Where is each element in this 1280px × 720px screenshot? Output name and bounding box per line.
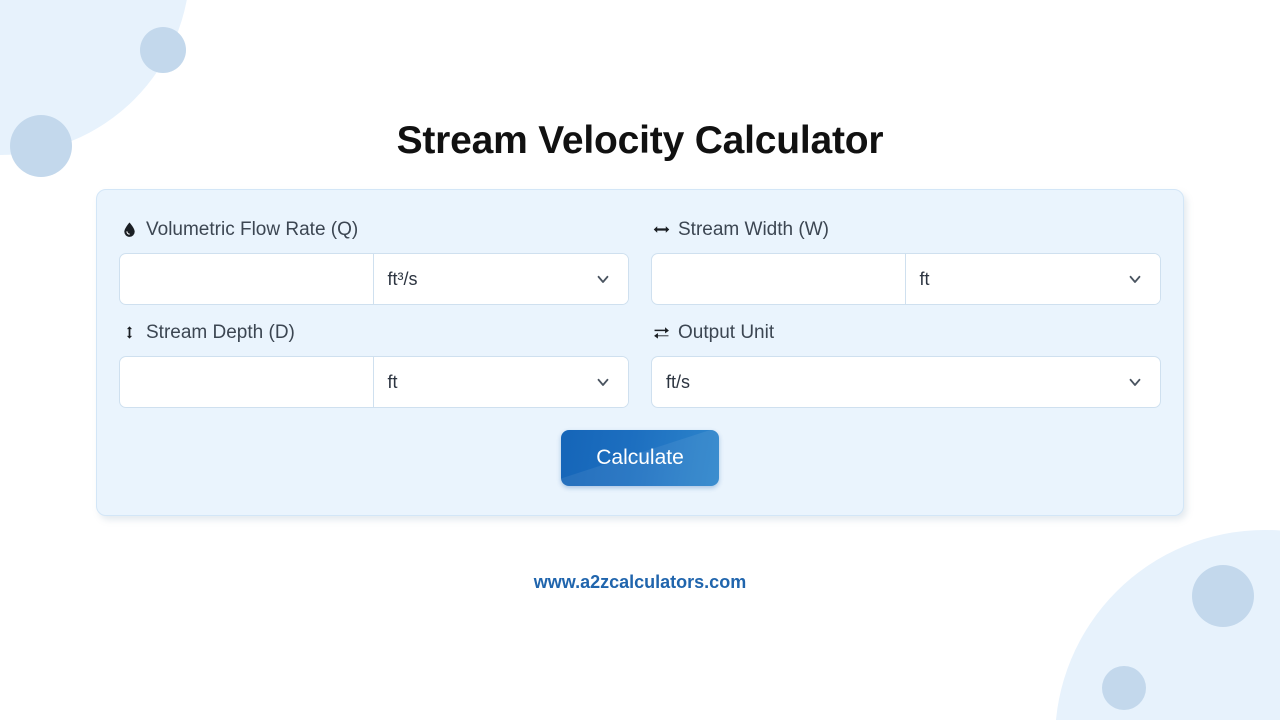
chevron-down-icon [594, 270, 612, 288]
input-group-volumetric-flow-rate: ft³/s [119, 253, 629, 305]
chevron-down-icon [1126, 373, 1144, 391]
field-output-unit: Output Unit ft/s [651, 315, 1161, 418]
label-volumetric-flow-rate: Volumetric Flow Rate (Q) [119, 212, 629, 246]
calculator-page: Stream Velocity Calculator Volumetric Fl… [0, 0, 1280, 720]
output-unit-select[interactable]: ft/s [651, 356, 1161, 408]
exchange-arrows-icon [651, 322, 671, 342]
volumetric-flow-rate-input[interactable] [120, 254, 373, 304]
input-group-stream-depth: ft [119, 356, 629, 408]
field-stream-width: Stream Width (W) ft [651, 212, 1161, 315]
field-label-text: Stream Depth (D) [146, 323, 295, 342]
calculate-button[interactable]: Calculate [561, 430, 719, 486]
calculator-card: Volumetric Flow Rate (Q) ft³/s [96, 189, 1184, 516]
label-output-unit: Output Unit [651, 315, 1161, 349]
form-grid: Volumetric Flow Rate (Q) ft³/s [119, 212, 1161, 418]
stream-depth-unit-select[interactable]: ft [374, 357, 629, 407]
field-volumetric-flow-rate: Volumetric Flow Rate (Q) ft³/s [119, 212, 629, 315]
field-label-text: Output Unit [678, 323, 774, 342]
calculate-button-label: Calculate [596, 446, 684, 469]
input-group-stream-width: ft [651, 253, 1161, 305]
footer-website-link[interactable]: www.a2zcalculators.com [0, 572, 1280, 593]
stream-width-unit-select[interactable]: ft [906, 254, 1161, 304]
field-stream-depth: Stream Depth (D) ft [119, 315, 629, 418]
label-stream-width: Stream Width (W) [651, 212, 1161, 246]
calculate-button-row: Calculate [119, 430, 1161, 486]
water-drop-icon [119, 219, 139, 239]
unit-value: ft³/s [388, 270, 418, 288]
horizontal-arrows-icon [651, 219, 671, 239]
stream-width-input[interactable] [652, 254, 905, 304]
unit-value: ft [388, 373, 398, 391]
unit-value: ft [920, 270, 930, 288]
label-stream-depth: Stream Depth (D) [119, 315, 629, 349]
field-label-text: Stream Width (W) [678, 220, 829, 239]
chevron-down-icon [1126, 270, 1144, 288]
unit-value: ft/s [666, 373, 690, 391]
stream-depth-input[interactable] [120, 357, 373, 407]
page-title: Stream Velocity Calculator [0, 119, 1280, 163]
field-label-text: Volumetric Flow Rate (Q) [146, 220, 358, 239]
vertical-arrows-icon [119, 322, 139, 342]
volumetric-flow-rate-unit-select[interactable]: ft³/s [374, 254, 629, 304]
chevron-down-icon [594, 373, 612, 391]
